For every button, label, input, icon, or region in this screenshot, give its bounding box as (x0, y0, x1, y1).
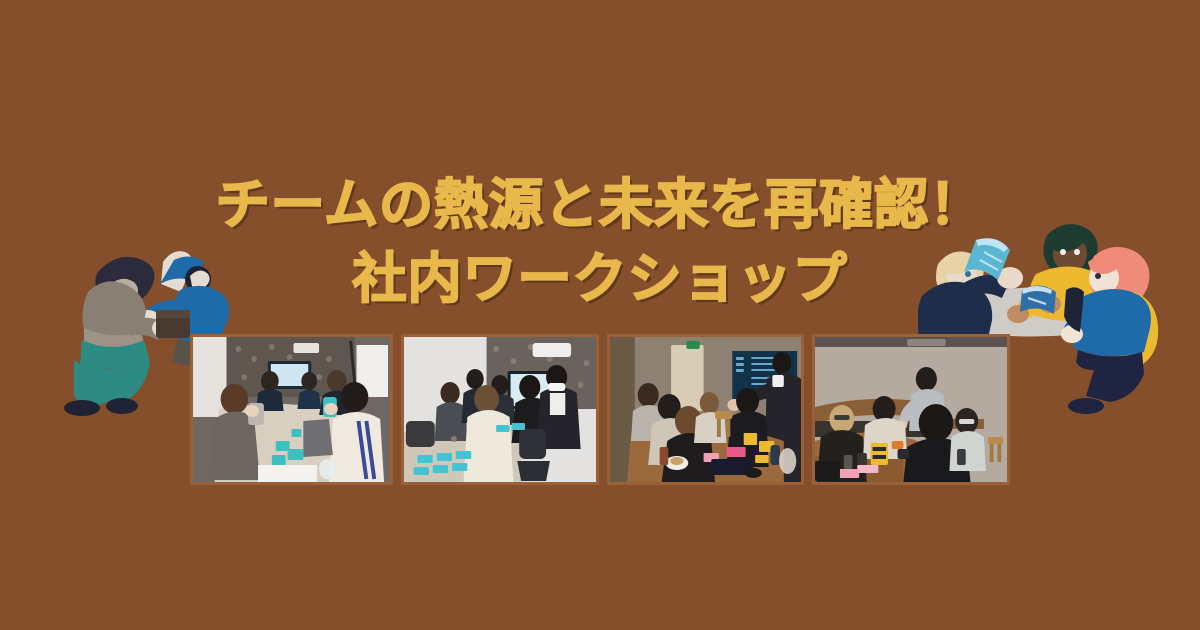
photo-presentation-projector (607, 334, 804, 485)
title-line-1: チームの熱源と未来を再確認！ (0, 168, 1200, 242)
photo-standing-around-table (401, 334, 599, 485)
photo-workshop-sticky-notes-meeting (190, 334, 393, 485)
photo-strip (190, 334, 1010, 485)
title-line-2: 社内ワークショップ (0, 242, 1200, 316)
og-card-canvas: チームの熱源と未来を再確認！ 社内ワークショップ (0, 0, 1200, 630)
page-title: チームの熱源と未来を再確認！ 社内ワークショップ (0, 168, 1200, 316)
photo-casual-table-discussion (812, 334, 1010, 485)
